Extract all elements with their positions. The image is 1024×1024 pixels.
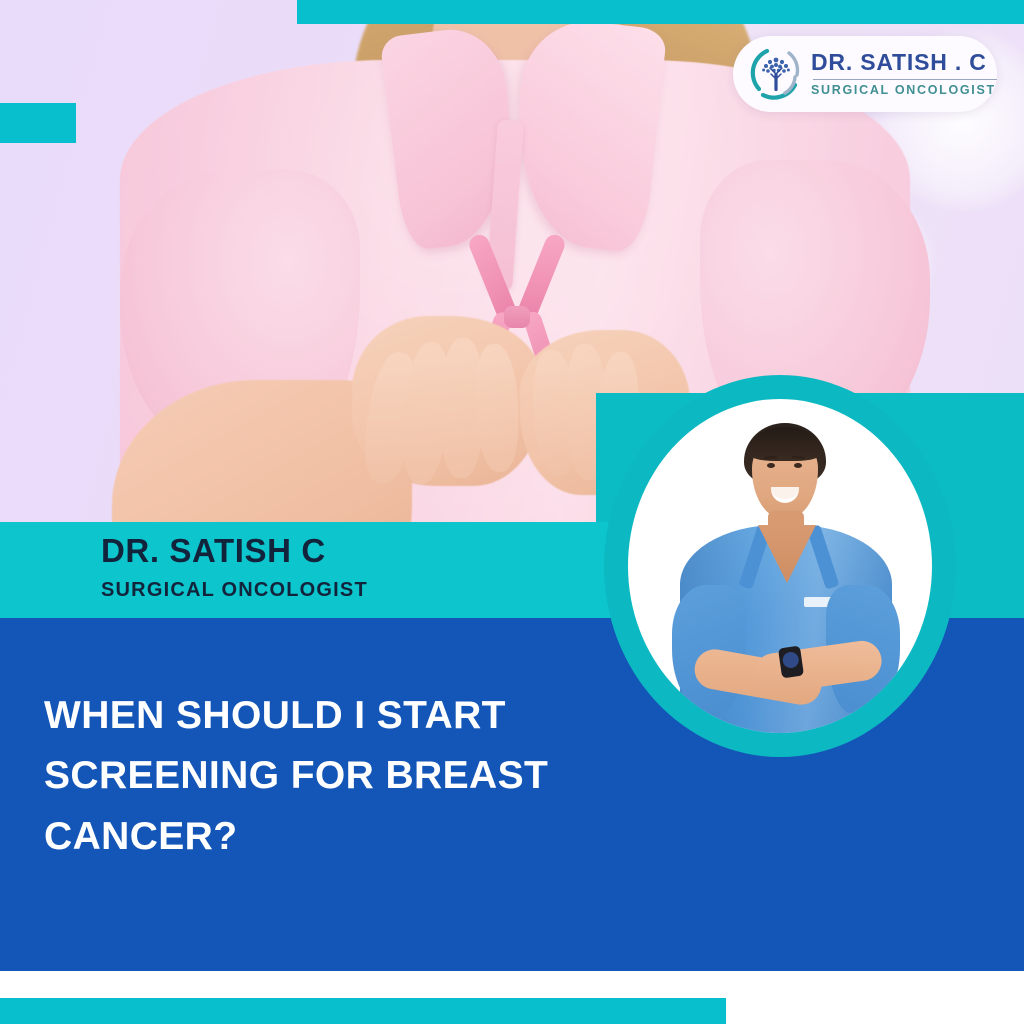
teal-bar-top [297,0,1024,24]
page-title: WHEN SHOULD I START SCREENING FOR BREAST… [44,686,634,867]
logo-title: DR. SATISH . C [811,51,997,74]
ribbon-knot [504,306,530,328]
teal-bar-left [0,103,76,143]
brand-logo-badge[interactable]: DR. SATISH . C SURGICAL ONCOLOGIST [733,36,997,112]
doctor-name: DR. SATISH C [101,534,621,569]
logo-text-block: DR. SATISH . C SURGICAL ONCOLOGIST [811,51,997,97]
doctor-role: SURGICAL ONCOLOGIST [101,579,621,602]
portrait-inner [628,399,932,733]
eye-left [767,463,775,468]
headline-line-2: SCREENING FOR BREAST [44,746,634,806]
headline-line-1: WHEN SHOULD I START [44,686,634,746]
logo-subtitle: SURGICAL ONCOLOGIST [811,84,997,97]
logo-divider [813,79,997,80]
wrist-watch-icon [778,646,804,679]
poster-canvas: DR. SATISH C SURGICAL ONCOLOGIST WHEN SH… [0,0,1024,1024]
headline-line-3: CANCER? [44,807,634,867]
doctor-name-block: DR. SATISH C SURGICAL ONCOLOGIST [101,534,621,602]
tree-circle-logo-icon [745,43,807,105]
teal-bar-bottom [0,998,726,1024]
eye-right [794,463,802,468]
doctor-portrait [628,399,932,733]
